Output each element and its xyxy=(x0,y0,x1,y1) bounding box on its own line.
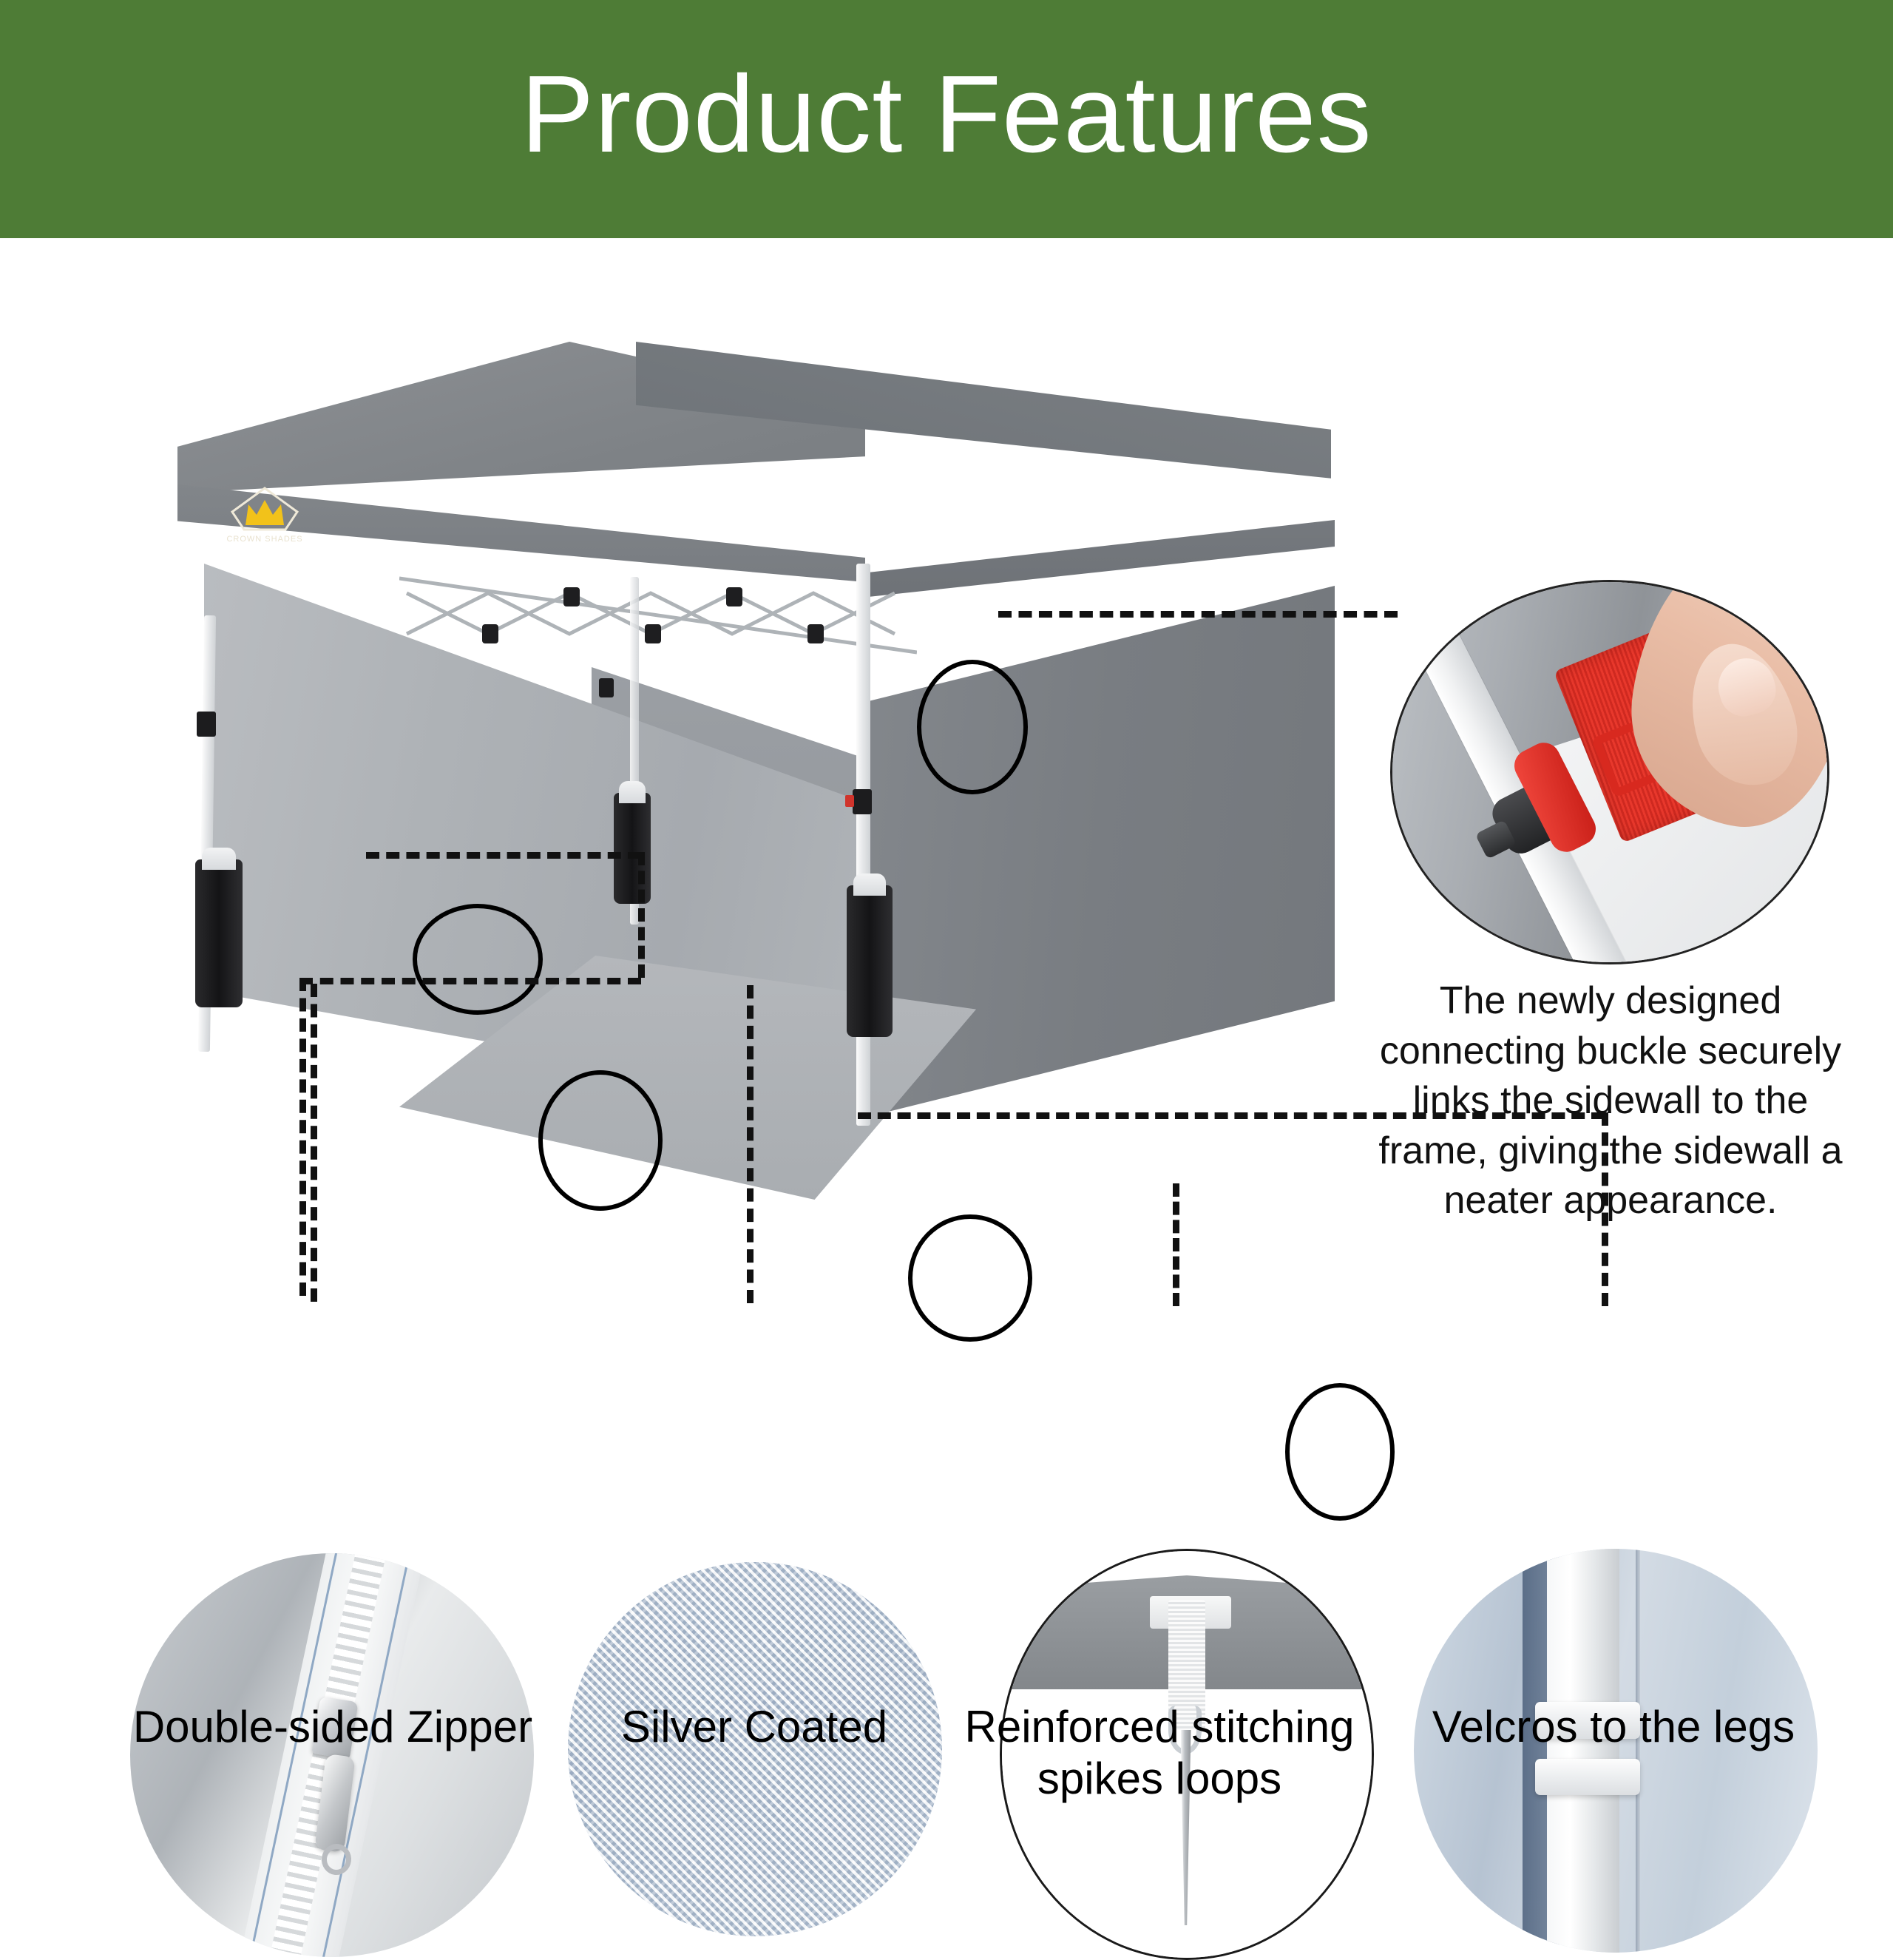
frame-leg-center xyxy=(856,564,870,1126)
caption-silver-coated: Silver Coated xyxy=(562,1701,946,1753)
callout-ring-velcro xyxy=(908,1214,1032,1342)
velcro-strap-lower xyxy=(1535,1759,1640,1795)
connecting-buckle-photo xyxy=(1390,580,1829,964)
brand-logo-icon: CROWN SHADES xyxy=(223,484,306,547)
zipper-detail-photo xyxy=(130,1553,534,1957)
callout-ring-zipper xyxy=(538,1070,663,1211)
canopy-illustration: CROWN SHADES xyxy=(177,342,1331,1229)
caption-reinforced-stitching-line2: spikes loops xyxy=(952,1753,1367,1805)
header-banner: Product Features xyxy=(0,0,1893,238)
caption-reinforced-stitching: Reinforced stitching spikes loops xyxy=(952,1701,1367,1804)
content-stage: CROWN SHADES The newly designed xyxy=(0,238,1893,1893)
callout-ring-reinforced-stitch xyxy=(1285,1383,1395,1521)
leg-weight-bag-rear xyxy=(614,793,651,904)
svg-text:CROWN SHADES: CROWN SHADES xyxy=(226,535,302,544)
leader-line-zipper-h xyxy=(366,852,641,859)
leader-line-zipper-drop xyxy=(299,978,306,1296)
buckle-description-text: The newly designed connecting buckle sec… xyxy=(1374,976,1847,1226)
leader-line-buckle xyxy=(998,611,1398,618)
canopy-valance-right xyxy=(861,487,1335,598)
caption-velcro: Velcros to the legs xyxy=(1369,1701,1858,1753)
leg-weight-bag-left xyxy=(195,859,243,1007)
leader-line-stitch xyxy=(1173,1183,1179,1306)
leader-line-zipper-h2 xyxy=(299,978,641,984)
sidewall-buckle-tab-left xyxy=(197,712,216,737)
caption-zipper: Double-sided Zipper xyxy=(89,1701,577,1753)
sidewall-buckle-tab-center xyxy=(853,789,872,814)
sidewall-buckle-tab-rear xyxy=(599,678,614,697)
page-title: Product Features xyxy=(521,60,1372,169)
leader-line-zipper-drop2 xyxy=(311,984,317,1302)
caption-reinforced-stitching-line1: Reinforced stitching xyxy=(952,1701,1367,1753)
leg-weight-bag-center xyxy=(847,885,893,1037)
leader-line-coated xyxy=(747,985,754,1303)
frame-truss xyxy=(399,564,917,704)
leader-line-zipper-v xyxy=(638,852,645,978)
callout-ring-buckle xyxy=(917,660,1028,794)
callout-ring-silver-coated xyxy=(413,904,543,1015)
